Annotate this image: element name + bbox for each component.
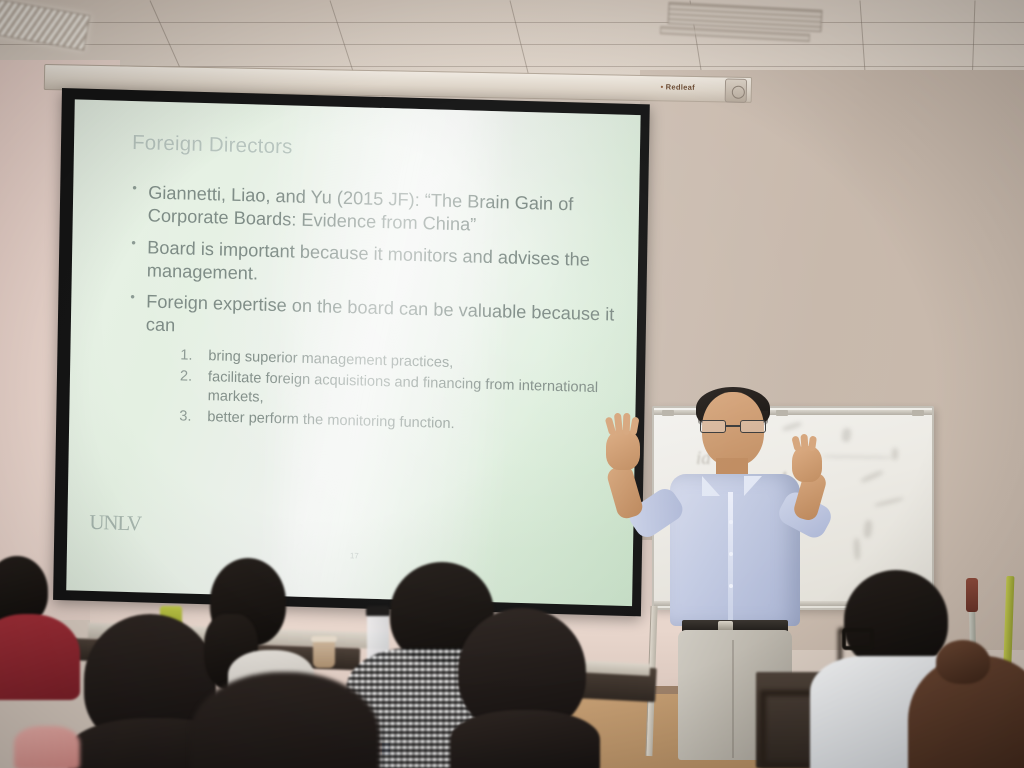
- slide-bullet-3: Foreign expertise on the board can be va…: [129, 290, 616, 350]
- presenter-shirt: [670, 474, 800, 626]
- presenter-glasses: [700, 420, 766, 433]
- student-top: [0, 614, 80, 700]
- pink-bag: [14, 726, 80, 768]
- presenter-left-forearm: [605, 463, 644, 520]
- unlv-logo: UNLV: [89, 510, 141, 536]
- slide-numbered-list: bring superior management practices, fac…: [179, 346, 614, 438]
- slide-content: Foreign Directors Giannetti, Liao, and Y…: [66, 99, 640, 606]
- presenter-trouser-seam: [732, 640, 734, 758]
- student-top: [450, 710, 600, 768]
- presenter-left-hand: [606, 430, 640, 470]
- student-center-dark: [190, 672, 380, 768]
- student-hair-bun: [936, 640, 990, 684]
- presenter-right-hand: [792, 446, 822, 482]
- screen-roller-end-cap: [725, 78, 747, 102]
- student-right-center: [458, 608, 598, 768]
- projection-surface: Foreign Directors Giannetti, Liao, and Y…: [66, 99, 640, 606]
- slide-number: 17: [350, 551, 359, 560]
- slide-bullet-list: Giannetti, Liao, and Yu (2015 JF): “The …: [129, 181, 618, 350]
- slide-bullet-1: Giannetti, Liao, and Yu (2015 JF): “The …: [131, 181, 618, 241]
- slide-bullet-2: Board is important because it monitors a…: [130, 236, 617, 296]
- projection-screen: Foreign Directors Giannetti, Liao, and Y…: [53, 88, 650, 616]
- whiteboard-clip-right: [912, 410, 924, 416]
- student-hair: [190, 672, 380, 768]
- presenter-shirt-placket: [728, 492, 733, 622]
- classroom-photo: Redleaf Foreign Directors Giannetti, Lia…: [0, 0, 1024, 768]
- slide-title: Foreign Directors: [132, 131, 618, 169]
- student-hair: [844, 570, 948, 670]
- presenter-collar-right: [744, 476, 762, 496]
- presenter-collar-left: [702, 476, 720, 496]
- student-right-brown-hair: [908, 656, 1024, 768]
- student-glasses: [842, 628, 874, 650]
- projector-brand-label: Redleaf: [660, 82, 695, 92]
